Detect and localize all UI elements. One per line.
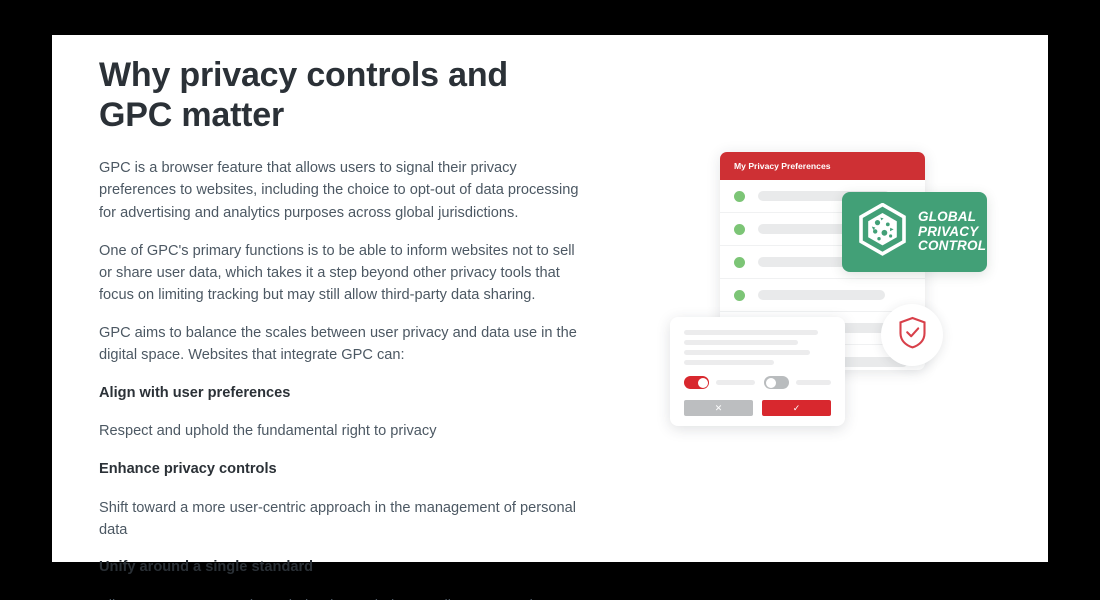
shield-badge — [881, 304, 943, 366]
gpc-logo-badge: GLOBAL PRIVACY CONTROL — [842, 192, 987, 272]
gpc-hexagon-icon — [858, 203, 907, 261]
dialog-text-placeholder — [684, 330, 818, 335]
page-title: Why privacy controls and GPC matter — [99, 55, 569, 135]
intro-paragraph-2: One of GPC's primary functions is to be … — [99, 240, 591, 307]
privacy-toggle-on[interactable] — [684, 376, 709, 389]
gpc-wordmark-line1: GLOBAL — [918, 210, 986, 225]
status-dot-icon — [734, 191, 745, 202]
screenshot-root: Why privacy controls and GPC matter GPC … — [0, 0, 1100, 600]
gpc-wordmark-line2: PRIVACY — [918, 225, 986, 240]
preference-label-placeholder — [758, 290, 885, 300]
benefit-body-align: Respect and uphold the fundamental right… — [99, 420, 591, 442]
shield-check-icon — [898, 316, 927, 354]
benefit-body-unify: Allow users to communicate their privacy… — [99, 595, 591, 600]
dialog-button-row: ✕ ✓ — [684, 400, 831, 416]
intro-paragraph-3: GPC aims to balance the scales between u… — [99, 322, 591, 366]
dialog-cancel-button[interactable]: ✕ — [684, 400, 753, 416]
preferences-card-title: My Privacy Preferences — [734, 161, 831, 171]
privacy-illustration: My Privacy Preferences — [652, 135, 1022, 455]
status-dot-icon — [734, 290, 745, 301]
dialog-text-placeholder — [684, 340, 798, 345]
consent-dialog-card: ✕ ✓ — [670, 317, 845, 426]
toggle-label-placeholder — [716, 380, 755, 385]
toggle-knob — [766, 378, 776, 388]
benefit-heading-enhance: Enhance privacy controls — [99, 459, 599, 481]
gpc-wordmark: GLOBAL PRIVACY CONTROL — [918, 210, 986, 254]
dialog-confirm-button[interactable]: ✓ — [762, 400, 831, 416]
dialog-text-placeholder — [684, 360, 774, 365]
toggle-knob — [698, 378, 708, 388]
status-dot-icon — [734, 224, 745, 235]
content-panel: Why privacy controls and GPC matter GPC … — [52, 35, 1048, 562]
preferences-card-header: My Privacy Preferences — [720, 152, 925, 180]
dialog-toggle-row — [684, 376, 831, 389]
benefit-heading-align: Align with user preferences — [99, 383, 599, 405]
dialog-text-placeholder — [684, 350, 810, 355]
preference-row[interactable] — [720, 279, 925, 312]
benefit-body-enhance: Shift toward a more user-centric approac… — [99, 497, 591, 541]
status-dot-icon — [734, 257, 745, 268]
gpc-wordmark-line3: CONTROL — [918, 239, 986, 254]
benefit-heading-unify: Unify around a single standard — [99, 557, 599, 579]
intro-paragraph-1: GPC is a browser feature that allows use… — [99, 157, 591, 224]
privacy-toggle-off[interactable] — [764, 376, 789, 389]
toggle-label-placeholder — [796, 380, 831, 385]
article-text-column: Why privacy controls and GPC matter GPC … — [99, 55, 599, 600]
